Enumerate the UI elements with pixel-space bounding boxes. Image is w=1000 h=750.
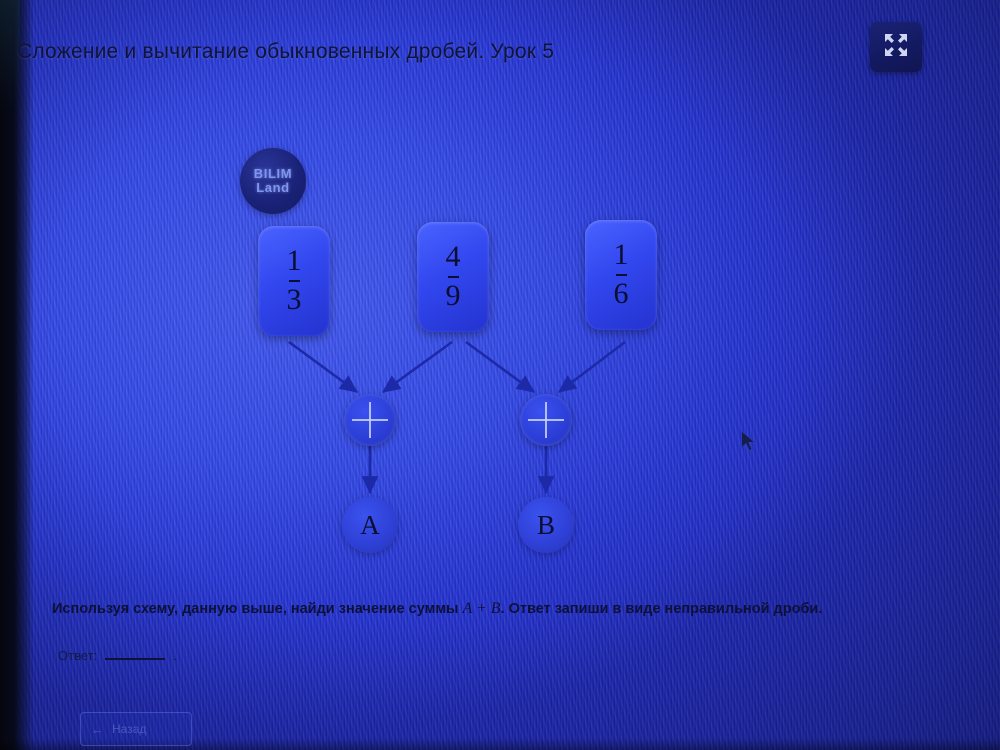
fraction-3-denominator: 6: [614, 279, 629, 310]
result-circle-b: B: [518, 497, 574, 553]
back-button[interactable]: ← Назад: [80, 712, 192, 746]
plus-circle-icon-left: [344, 394, 396, 446]
page-title: Сложение и вычитание обыкновенных дробей…: [17, 40, 554, 64]
fraction-1-bar: [289, 280, 300, 282]
question-expression: A + B: [462, 600, 500, 617]
fraction-1: 1 3: [287, 246, 302, 315]
fraction-2-numerator: 4: [446, 242, 461, 273]
fraction-3: 1 6: [614, 240, 629, 309]
answer-trailing-punctuation: .: [173, 648, 177, 663]
fraction-1-numerator: 1: [287, 246, 302, 277]
fraction-2: 4 9: [446, 242, 461, 311]
fraction-2-bar: [448, 276, 459, 278]
question-text-after: . Ответ запиши в виде неправильной дроби…: [501, 601, 823, 617]
fraction-2-denominator: 9: [446, 281, 461, 312]
fraction-box-2[interactable]: 4 9: [417, 222, 489, 332]
fraction-1-denominator: 3: [287, 285, 302, 316]
fullscreen-button[interactable]: [870, 22, 922, 72]
fraction-3-bar: [616, 274, 627, 276]
fraction-box-3[interactable]: 1 6: [585, 220, 657, 330]
arrow-left-icon: ←: [91, 722, 104, 737]
fullscreen-expand-icon: [883, 32, 909, 63]
back-button-label: Назад: [112, 722, 146, 736]
fraction-3-numerator: 1: [614, 240, 629, 271]
question-text: Используя схему, данную выше, найди знач…: [52, 597, 842, 620]
question-text-before: Используя схему, данную выше, найди знач…: [52, 601, 462, 617]
logo-line-1: BILIM: [254, 167, 292, 181]
fraction-box-1[interactable]: 1 3: [258, 226, 330, 336]
answer-input[interactable]: [105, 658, 165, 660]
bilim-land-logo: BILIM Land: [240, 148, 306, 214]
answer-row: Ответ: .: [58, 648, 177, 663]
answer-label: Ответ:: [58, 648, 97, 663]
logo-line-2: Land: [256, 181, 289, 195]
plus-circle-icon-right: [520, 394, 572, 446]
result-circle-a: A: [342, 497, 398, 553]
fraction-flow-diagram: BILIM Land 1 3 4 9 1 6 A B: [0, 100, 1000, 600]
diagram-connectors: [0, 100, 1000, 600]
